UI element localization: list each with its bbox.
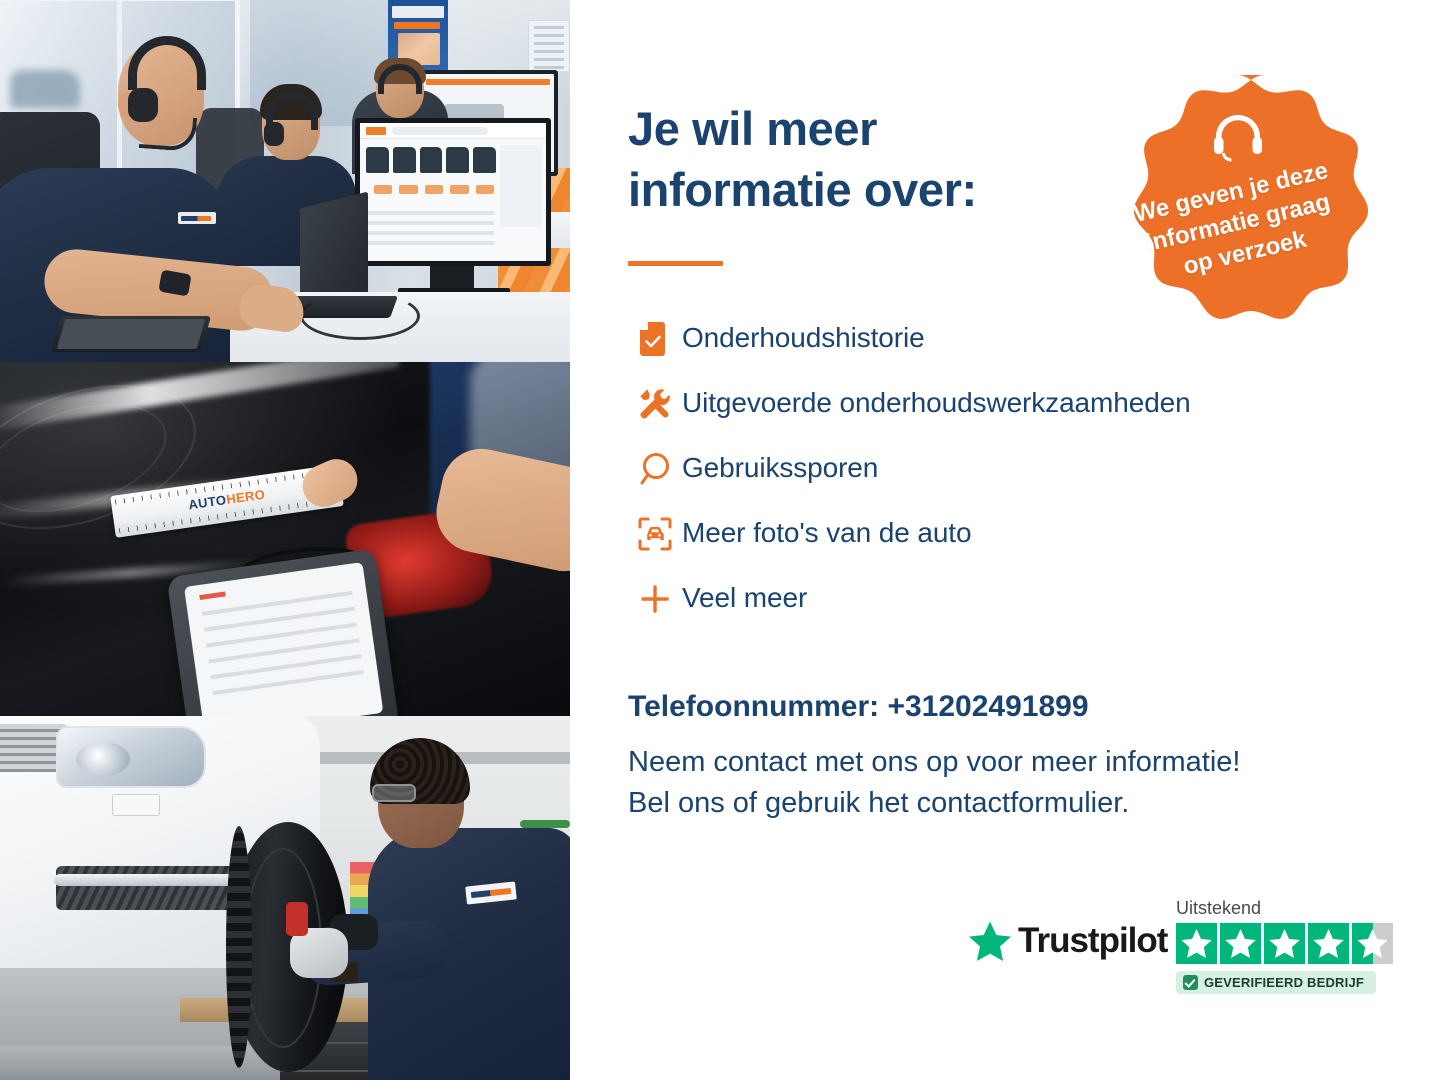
contact-copy-line-1: Neem contact met ons op voor meer inform… [628,742,1388,783]
photo-column: AUTOHERO [0,0,570,1080]
star-tile-half [1352,923,1393,964]
star-tile [1176,923,1217,964]
page-title-line-2: informatie over: [628,159,1148,220]
list-item: Onderhoudshistorie [628,306,1388,371]
list-item-label: Uitgevoerde onderhoudswerkzaamheden [682,388,1191,419]
star-tile [1264,923,1305,964]
agent-one-name-badge [178,212,216,224]
list-item: Veel meer [628,566,1388,631]
car-scan-icon [628,517,682,551]
photo-mechanic-wheel [0,716,570,1080]
car-chrome-trim [54,874,234,886]
star-tile [1220,923,1261,964]
list-item: Meer foto's van de auto [628,501,1388,566]
car-headlight [56,726,206,788]
title-underline-rule [628,261,723,266]
page-title: Je wil meer informatie over: [628,98,1148,220]
feature-list: Onderhoudshistorie Uitgevoerde onderhoud… [628,306,1388,631]
banner-text-block [392,6,444,18]
verified-business-label: GEVERIFIEERD BEDRIJF [1204,975,1364,990]
list-item: Uitgevoerde onderhoudswerkzaamheden [628,371,1388,436]
background-car [10,70,80,108]
contact-copy-line-2: Bel ons of gebruik het contactformulier. [628,783,1388,824]
list-item: Gebruikssporen [628,436,1388,501]
banner-orange-bar [394,22,440,29]
trustpilot-rating-label: Uitstekend [1176,898,1398,919]
list-item-label: Onderhoudshistorie [682,323,925,354]
tyre-tread [226,826,252,1068]
list-item-label: Gebruikssporen [682,453,878,484]
magnifier-icon [628,451,682,487]
trustpilot-widget[interactable]: Trustpilot Uitstekend GEVERIFIEERD BEDRI… [968,898,1398,1008]
main-monitor-stand [430,266,474,290]
desk-tablet [51,316,211,352]
agent-two-headset-cup [264,122,284,146]
document-check-icon [628,322,682,356]
green-hose [520,820,570,828]
trustpilot-wordmark: Trustpilot [1018,921,1167,961]
car-plate-holder [112,794,160,816]
list-item-label: Meer foto's van de auto [682,518,971,549]
photo-car-inspection: AUTOHERO [0,362,570,716]
trustpilot-rating-block: Uitstekend GEVERIFIEERD BEDRIJF [1176,898,1398,995]
list-item-label: Veel meer [682,583,807,614]
trustpilot-star-icon [968,920,1012,962]
desk-cable [300,292,420,340]
headset-icon [1211,113,1265,163]
star-tile [1308,923,1349,964]
page-title-line-1: Je wil meer [628,98,1148,159]
mechanic-glasses [372,784,416,802]
wall-poster [528,20,570,72]
main-monitor [355,118,551,266]
on-request-badge: We geven je deze informatie graag op ver… [1100,73,1375,331]
photo-call-center [0,0,570,362]
trustpilot-logo: Trustpilot [968,920,1167,962]
car-lower-grille [56,866,236,910]
phone-line: Telefoonnummer: +31202491899 [628,690,1388,724]
tools-wrench-screwdriver-icon [628,387,682,421]
contact-copy: Neem contact met ons op voor meer inform… [628,742,1388,824]
trustpilot-stars [1176,923,1398,964]
tread-depth-gauge [286,902,308,936]
check-icon [1183,975,1198,990]
content-panel: Je wil meer informatie over: We geven je… [570,0,1440,1080]
plus-icon [628,583,682,615]
phone-number[interactable]: +31202491899 [887,690,1088,723]
verified-business-badge: GEVERIFIEERD BEDRIJF [1176,971,1376,994]
phone-label: Telefoonnummer: [628,690,879,723]
